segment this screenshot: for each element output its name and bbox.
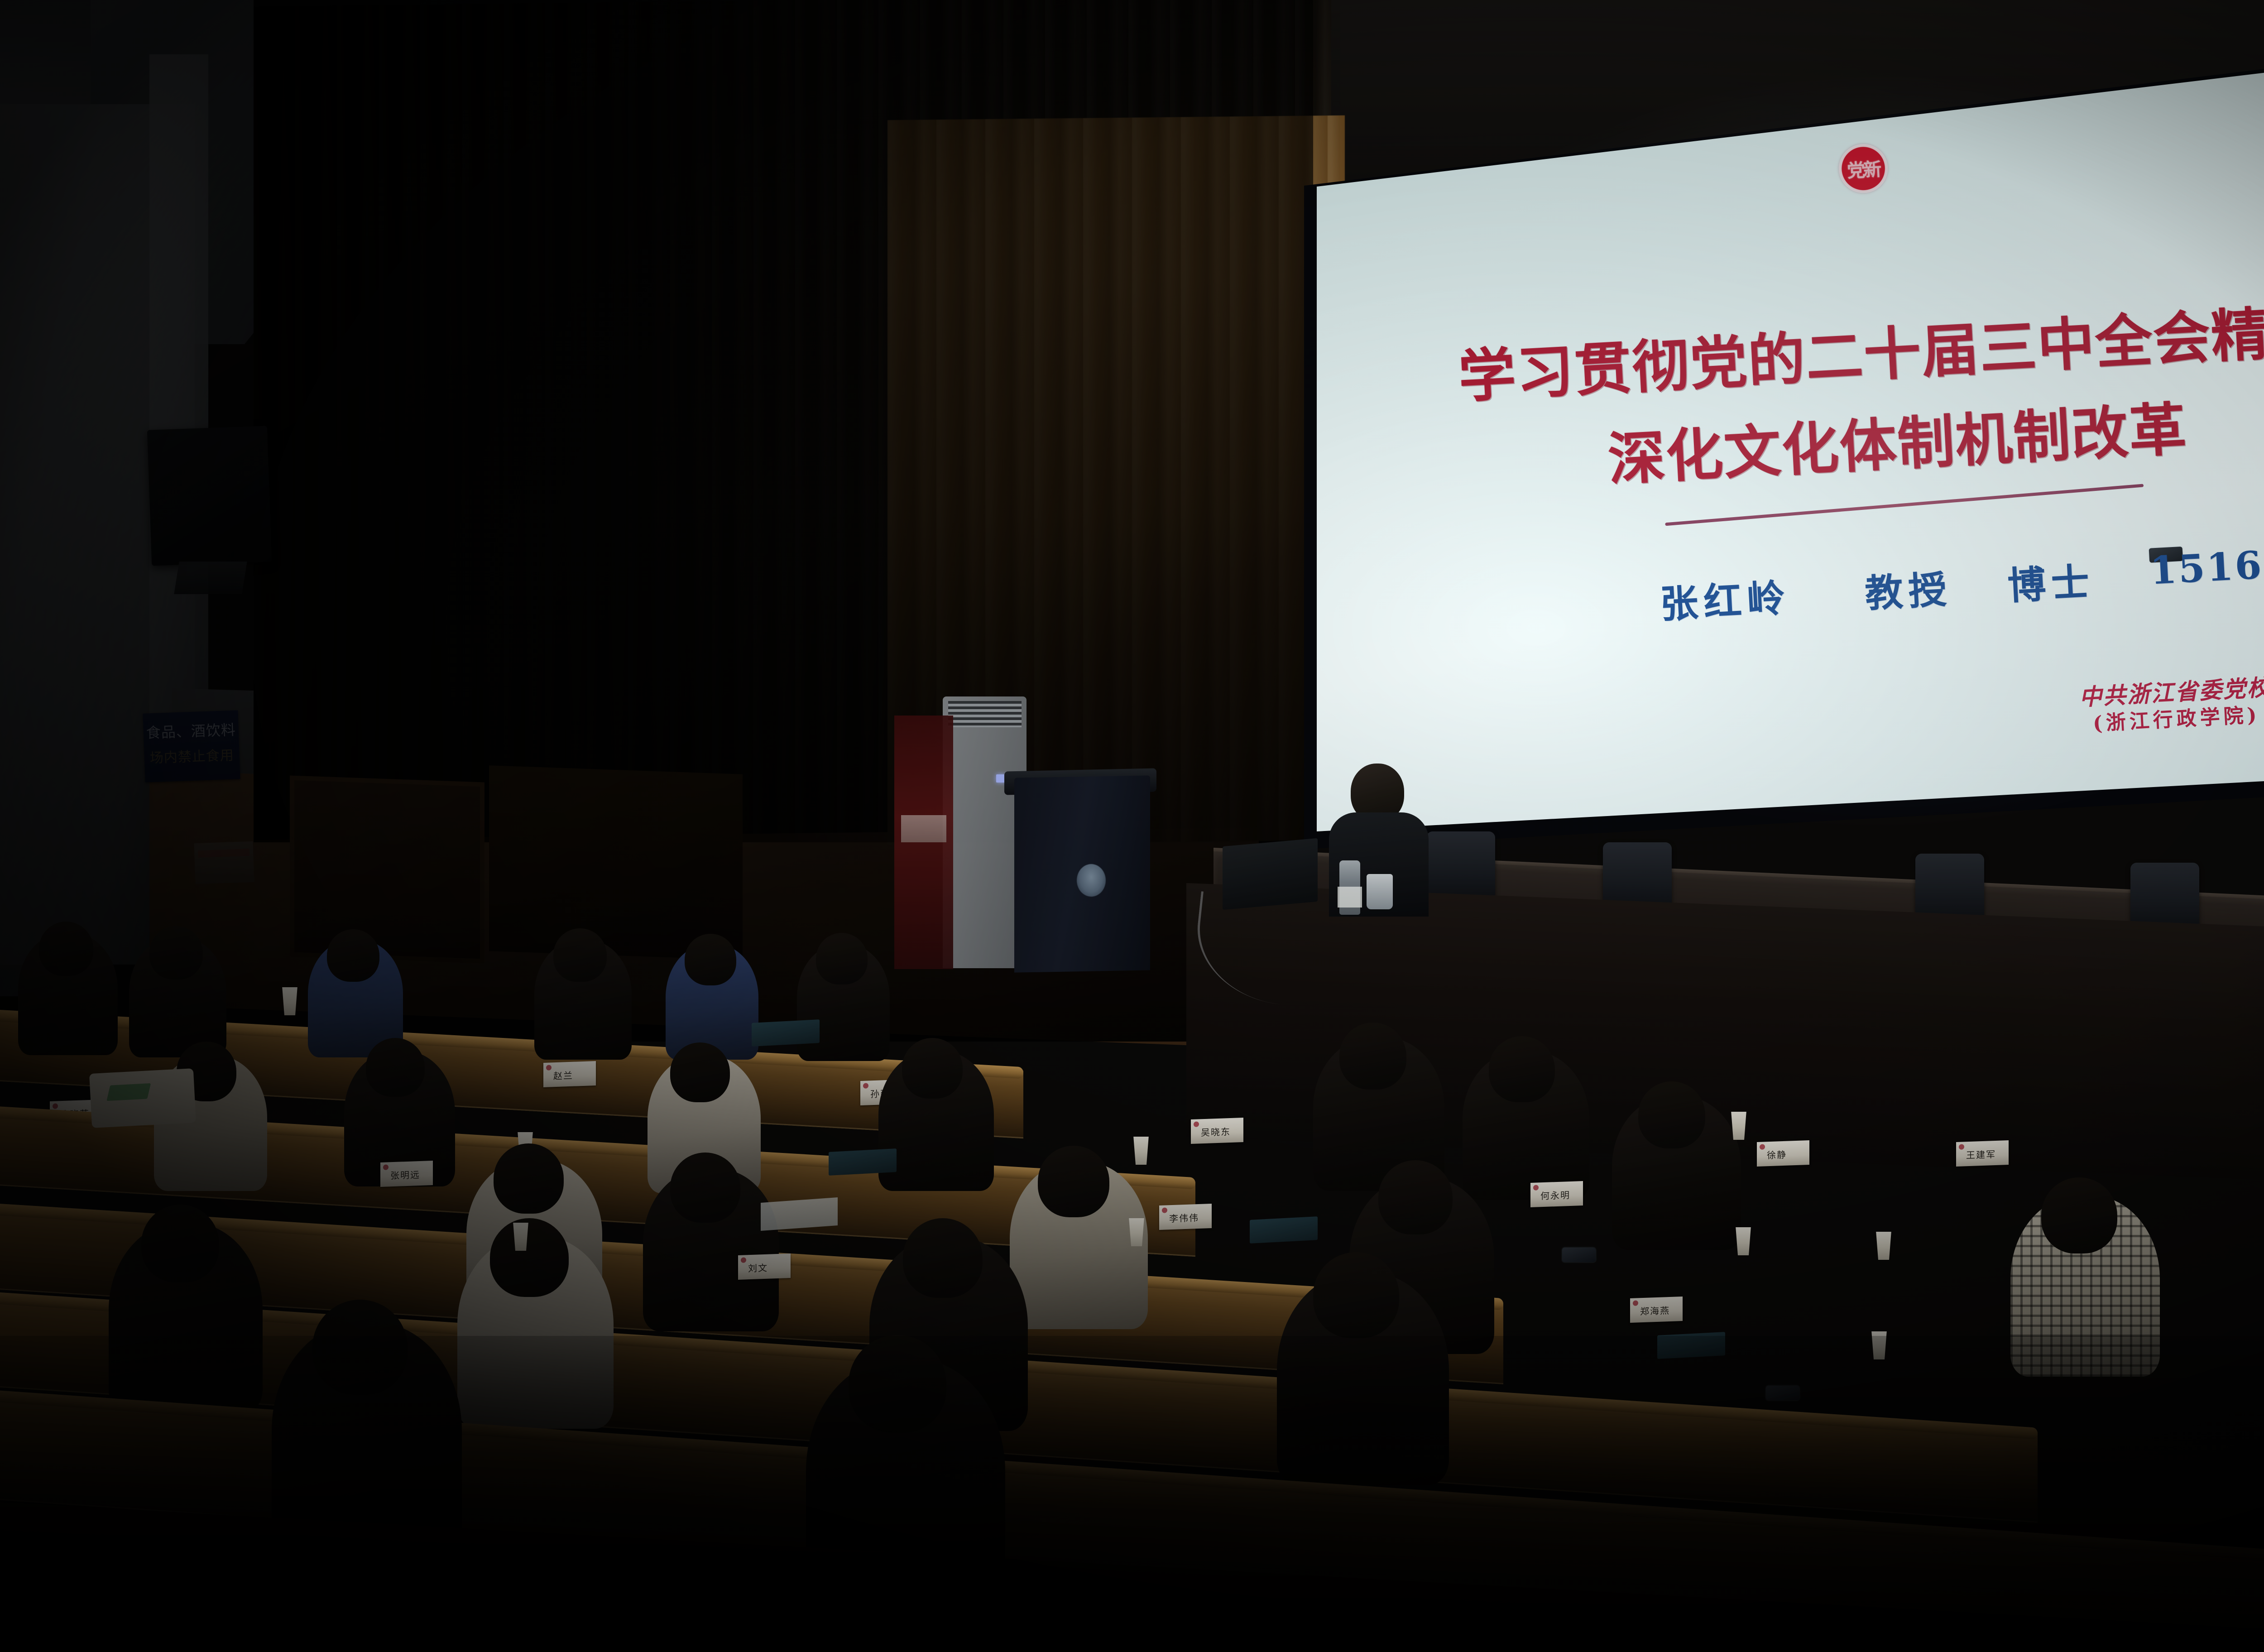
- slide-byline: 张红岭 教授 博士 15168315958: [1324, 530, 2264, 647]
- presenter-phone: 15168315958: [2149, 547, 2183, 563]
- party-school-emblem-icon: [1837, 143, 1889, 194]
- name-placard: 赵兰: [543, 1061, 596, 1087]
- audience-head: [1313, 1252, 1399, 1338]
- notebook: [752, 1019, 820, 1047]
- name-placard: 王建军: [1956, 1140, 2009, 1167]
- name-placard: 何永明: [1530, 1181, 1583, 1207]
- name-placard: 李伟伟: [1159, 1204, 1212, 1230]
- no-food-sign-line-1: 食品、酒饮料: [143, 718, 239, 742]
- name-placard-text: 吴晓东: [1201, 1124, 1231, 1138]
- lectern-emblem-icon: [1077, 864, 1106, 897]
- no-food-sign-line-2: 场内禁止食用: [144, 744, 240, 767]
- audience-head: [902, 1038, 963, 1099]
- name-placard: 徐静: [1757, 1140, 1809, 1167]
- audience-head: [1489, 1036, 1555, 1102]
- audience-head: [685, 934, 736, 985]
- audience-head: [490, 1218, 569, 1297]
- audience-head: [494, 1143, 564, 1214]
- name-placard: 吴晓东: [1191, 1118, 1243, 1144]
- audience-head: [816, 933, 868, 984]
- name-placard-text: 徐静: [1767, 1148, 1787, 1162]
- audience-head: [327, 929, 379, 982]
- audience-head: [903, 1218, 983, 1298]
- notebook: [1250, 1216, 1318, 1244]
- audience-head: [670, 1042, 730, 1102]
- audience-head: [1638, 1081, 1705, 1148]
- notebook: [1657, 1332, 1725, 1359]
- audience-head: [1038, 1146, 1109, 1217]
- name-placard-text: 郑海燕: [1640, 1303, 1670, 1317]
- paper-cup: [281, 987, 299, 1015]
- name-placard: 郑海燕: [1630, 1297, 1683, 1323]
- presenter-degree: 博士: [2006, 559, 2096, 608]
- audience-head: [2041, 1177, 2117, 1253]
- stage-chair: [1426, 831, 1495, 899]
- side-door-secondary[interactable]: [489, 765, 743, 960]
- wall-speaker-icon: [147, 426, 272, 566]
- name-placard: 刘文: [738, 1253, 791, 1280]
- audience-head: [149, 926, 203, 980]
- slide-divider-rule: [1665, 484, 2144, 526]
- wall-notice-poster: [194, 841, 254, 884]
- name-placard-text: 李伟伟: [1169, 1210, 1199, 1225]
- speaker-bracket: [174, 562, 247, 594]
- presenter-name: 张红岭: [1659, 575, 1792, 627]
- audience-head: [670, 1153, 740, 1223]
- audience-head: [849, 1335, 946, 1433]
- smartphone[interactable]: [1766, 1386, 1799, 1400]
- tea-mug: [1367, 874, 1393, 909]
- side-door[interactable]: [290, 775, 484, 963]
- audience-head: [141, 1205, 219, 1282]
- audience-head: [39, 922, 93, 976]
- no-food-sign: 食品、酒饮料 场内禁止食用: [143, 710, 240, 782]
- paper-cup: [1734, 1227, 1752, 1255]
- name-placard-text: 何永明: [1540, 1188, 1570, 1202]
- institution-block: 中共浙江省委党校 (浙江行政学院): [2029, 671, 2264, 739]
- air-conditioner-grille: [948, 701, 1022, 727]
- name-placard-text: 刘文: [748, 1261, 768, 1275]
- name-placard-text: 张明远: [390, 1167, 420, 1181]
- red-vertical-banner: [894, 716, 953, 969]
- handout-paper: [761, 1197, 838, 1231]
- paper-cup: [1870, 1331, 1888, 1359]
- name-placard-text: 赵兰: [553, 1068, 573, 1082]
- red-banner-white-panel: [901, 815, 946, 842]
- audience-head: [312, 1300, 408, 1395]
- presenter-title: 教授: [1864, 567, 1953, 616]
- smartphone[interactable]: [1562, 1248, 1596, 1262]
- audience-head: [553, 928, 607, 982]
- audience-head: [1378, 1160, 1453, 1234]
- name-placard-text: 王建军: [1966, 1147, 1996, 1161]
- audience-head: [1339, 1023, 1406, 1090]
- stage-chair: [1915, 854, 1984, 922]
- lecture-hall-photo: 食品、酒饮料 场内禁止食用 学习贯彻党的二十届三中全会精神 深化文化体制机制改革…: [0, 0, 2264, 1652]
- notebook: [829, 1148, 897, 1176]
- stage-chair: [2130, 863, 2199, 931]
- tote-bag: [89, 1068, 196, 1128]
- name-placard: 张明远: [380, 1161, 433, 1187]
- paper-cup: [1132, 1137, 1150, 1165]
- water-bottle-label: [1338, 887, 1362, 908]
- paper-cup: [1875, 1232, 1893, 1260]
- audience-head: [366, 1038, 425, 1097]
